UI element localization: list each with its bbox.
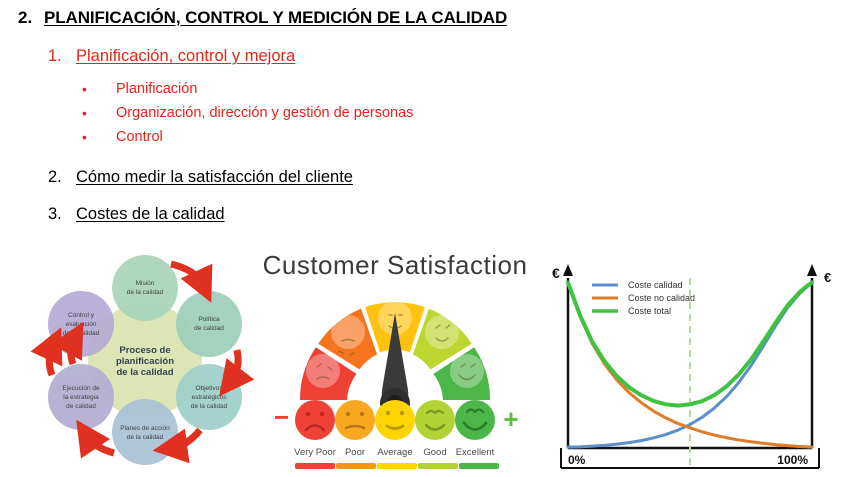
satisfaction-label-excellent: Excellent (456, 447, 495, 458)
y-axis-right-arrow (807, 264, 817, 276)
outline-subitem-1-3-text: Control (116, 128, 163, 147)
slide-outline: 2. PLANIFICACIÓN, CONTROL Y MEDICIÓN DE … (0, 0, 848, 240)
cycle-node-ejecucion-line-1: Ejecución de (62, 385, 100, 392)
cycle-node-mision-line-1: Misión (136, 280, 155, 287)
cycle-node-ejecucion-line-2: la estrategia (63, 394, 99, 401)
cycle-node-ejecucion[interactable]: Ejecución de la estrategia de calidad (48, 364, 114, 430)
outline-item-3-number: 3. (48, 205, 76, 224)
customer-satisfaction-graphic: Customer Satisfaction (258, 240, 533, 477)
x-tick-label-0: 0% (568, 453, 586, 467)
satisfaction-chip-average[interactable]: Average (375, 400, 415, 458)
gauge-face-very-poor (306, 354, 340, 388)
outline-item-3-text: Costes de la calidad (76, 205, 225, 224)
cycle-node-politica-line-2: de calidad (194, 325, 224, 332)
legend-label-coste-total: Coste total (628, 306, 671, 316)
outline-item-1-number: 1. (48, 47, 76, 66)
x-tick-label-100: 100% (777, 453, 808, 467)
minus-icon: − (274, 402, 289, 432)
slide-heading: 2. PLANIFICACIÓN, CONTROL Y MEDICIÓN DE … (18, 8, 507, 28)
arrow-control-to-mision (71, 339, 74, 364)
cycle-node-planes-line-2: de la calidad (127, 434, 164, 441)
outline-subitem-1-1-text: Planificación (116, 80, 197, 99)
outline-item-2: 2. Cómo medir la satisfacción del client… (48, 168, 353, 187)
cycle-center-line-1: Proceso de (119, 345, 170, 356)
cycle-node-politica[interactable]: Política de calidad (176, 291, 242, 357)
outline-item-3: 3. Costes de la calidad (48, 205, 225, 224)
satisfaction-label-poor: Poor (345, 447, 365, 458)
outline-subitem-1-2-text: Organización, dirección y gestión de per… (116, 104, 413, 123)
satisfaction-label-very-poor: Very Poor (294, 447, 336, 458)
cycle-node-objetivos-line-2: estratégicos (191, 394, 227, 401)
satisfaction-label-good: Good (423, 447, 446, 458)
arrow-planes-to-ejecucion (87, 436, 114, 453)
heading-text: PLANIFICACIÓN, CONTROL Y MEDICIÓN DE LA … (44, 8, 507, 28)
outline-item-2-number: 2. (48, 168, 76, 187)
cycle-node-planes[interactable]: Planes de acción de la calidad (112, 399, 178, 465)
cycle-node-planes-line-1: Planes de acción (120, 425, 170, 432)
legend-label-coste-calidad: Coste calidad (628, 280, 683, 290)
y-axis-left-arrow (563, 264, 573, 276)
graphics-row: Proceso de planificación de la calidad M… (0, 240, 848, 477)
gauge-face-poor (331, 315, 365, 349)
cost-of-quality-chart: € € 0% 100% Coste calidad Coste no calid… (540, 240, 848, 477)
outline-subitem-1-3: • Control (82, 128, 163, 147)
quality-planning-cycle-diagram: Proceso de planificación de la calidad M… (30, 240, 260, 477)
cycle-center-line-2: planificación (116, 356, 174, 367)
satisfaction-label-average: Average (377, 447, 412, 458)
gauge-face-excellent (450, 354, 484, 388)
legend-label-coste-no-calidad: Coste no calidad (628, 293, 695, 303)
outline-item-1: 1. Planificación, control y mejora (48, 47, 295, 66)
cycle-node-control-line-3: de la calidad (63, 330, 100, 337)
chart-legend: Coste calidad Coste no calidad Coste tot… (592, 280, 695, 316)
cycle-node-control-line-2: evaluación (65, 321, 96, 328)
outline-subitem-1-2: • Organización, dirección y gestión de p… (82, 104, 413, 123)
satisfaction-chip-very-poor[interactable]: Very Poor (294, 400, 336, 458)
satisfaction-scale: Very Poor Poor Average (294, 400, 495, 458)
outline-subitem-1-1: • Planificación (82, 80, 197, 99)
satisfaction-title: Customer Satisfaction (263, 250, 528, 280)
satisfaction-chip-excellent[interactable]: Excellent (455, 400, 495, 458)
heading-number: 2. (18, 8, 44, 28)
satisfaction-chip-good[interactable]: Good (415, 400, 455, 458)
y-axis-right-unit: € (824, 270, 831, 285)
bullet-icon: • (82, 80, 116, 99)
cycle-node-objetivos-line-1: Objetivos (195, 385, 223, 392)
plus-icon: + (503, 404, 518, 434)
arrow-politica-to-objetivos (231, 350, 238, 381)
cycle-node-politica-line-1: Política (198, 316, 220, 323)
arrow-ejecucion-to-control (49, 345, 53, 375)
cycle-node-mision[interactable]: Misión de la calidad (112, 255, 178, 321)
gauge-face-good (425, 315, 459, 349)
satisfaction-chip-poor[interactable]: Poor (335, 400, 375, 458)
cycle-center-line-3: de la calidad (116, 367, 173, 378)
satisfaction-color-strip (295, 463, 499, 469)
bullet-icon: • (82, 104, 116, 123)
y-axis-left-unit: € (552, 265, 560, 281)
bullet-icon: • (82, 128, 116, 147)
outline-item-1-text: Planificación, control y mejora (76, 47, 295, 66)
cycle-node-control-line-1: Control y (68, 312, 95, 319)
cycle-node-objetivos-line-3: de la calidad (191, 403, 228, 410)
cycle-node-control[interactable]: Control y evaluación de la calidad (48, 291, 114, 357)
outline-item-2-text: Cómo medir la satisfacción del cliente (76, 168, 353, 187)
cycle-node-ejecucion-line-3: de calidad (66, 403, 96, 410)
cycle-node-mision-line-2: de la calidad (127, 289, 164, 296)
